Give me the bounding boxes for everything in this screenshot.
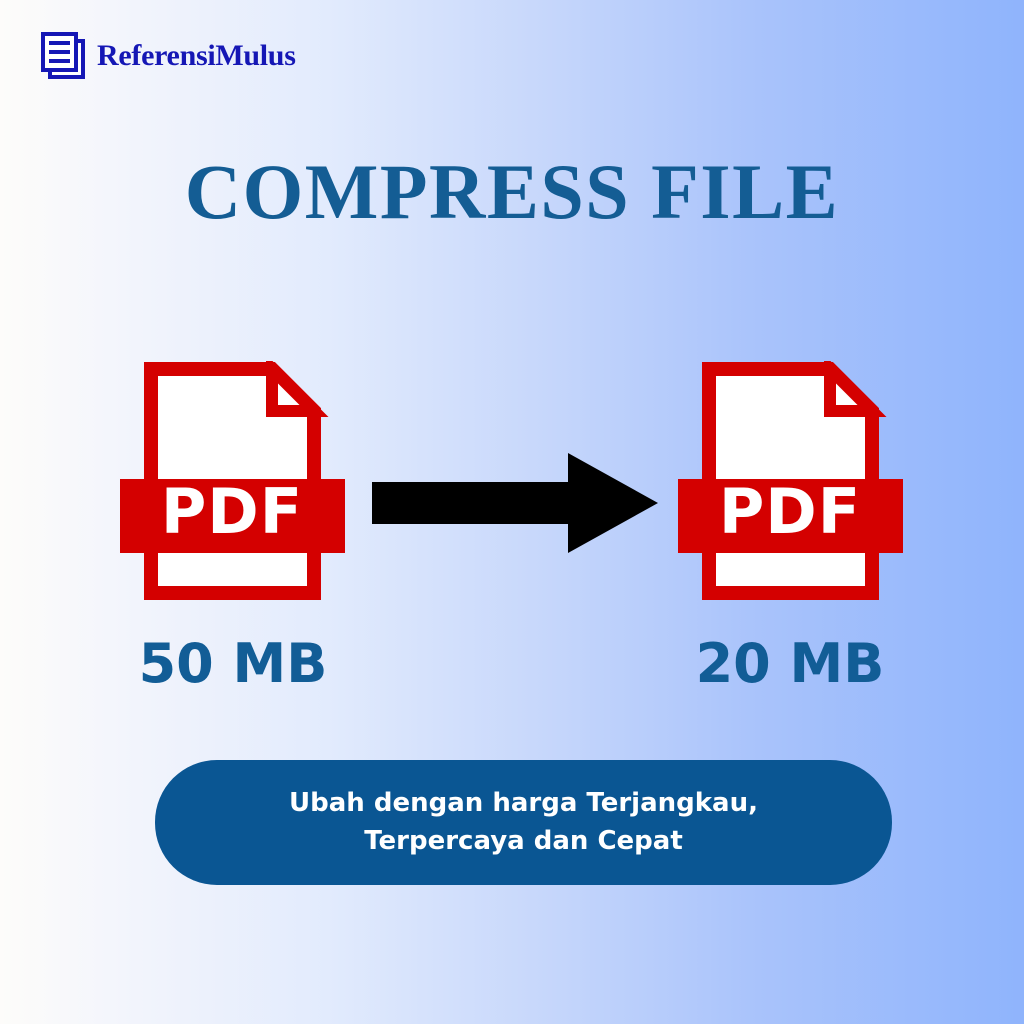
file-size-before: 50 MB — [103, 634, 363, 693]
right-arrow-icon — [372, 453, 658, 553]
poster-canvas: ReferensiMulus COMPRESS FILE PDF PDF 50 … — [0, 0, 1024, 1024]
tagline-banner[interactable]: Ubah dengan harga Terjangkau, Terpercaya… — [155, 760, 892, 885]
pdf-file-icon-before: PDF — [120, 361, 345, 601]
brand-logo[interactable]: ReferensiMulus — [40, 31, 296, 81]
brand-name: ReferensiMulus — [97, 41, 296, 71]
page-title: COMPRESS FILE — [0, 151, 1024, 233]
svg-text:PDF: PDF — [719, 475, 861, 548]
tagline-line-2: Terpercaya dan Cepat — [364, 824, 683, 859]
stacked-documents-icon — [40, 31, 88, 81]
tagline-line-1: Ubah dengan harga Terjangkau, — [289, 786, 758, 821]
pdf-file-icon-after: PDF — [678, 361, 903, 601]
file-size-after: 20 MB — [660, 634, 920, 693]
svg-text:PDF: PDF — [161, 475, 303, 548]
